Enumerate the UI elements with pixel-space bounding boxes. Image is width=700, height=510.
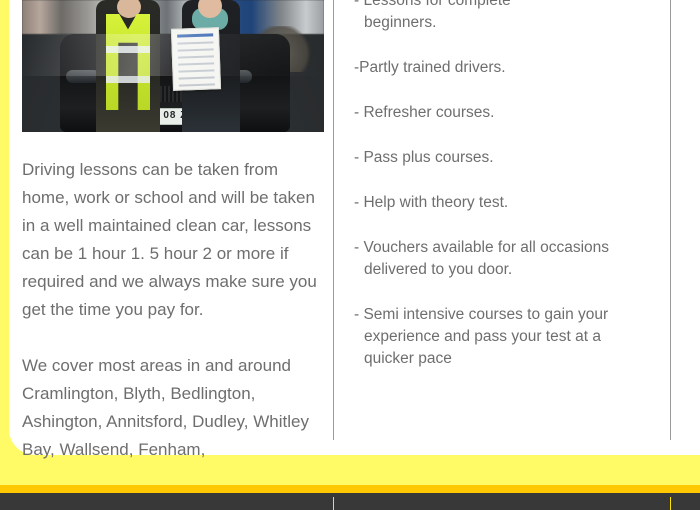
- page-root: 08 ZYE Driving lessons can be taken from…: [0, 0, 700, 510]
- photo-lens-glare: [22, 34, 324, 76]
- right-content-column: Services - Lessons for complete beginner…: [354, 0, 654, 393]
- service-item: - Pass plus courses.: [354, 147, 654, 169]
- service-item: - Semi intensive courses to gain your ex…: [354, 304, 654, 370]
- footer-bar: [0, 493, 700, 510]
- left-content-column: 08 ZYE Driving lessons can be taken from…: [22, 0, 325, 492]
- content-card: 08 ZYE Driving lessons can be taken from…: [9, 0, 700, 455]
- footer-divider-left: [333, 497, 334, 510]
- pupil-pass-photo: 08 ZYE: [22, 0, 324, 132]
- column-divider-middle: [333, 0, 334, 440]
- service-item: -Partly trained drivers.: [354, 57, 654, 79]
- about-paragraph-lessons: Driving lessons can be taken from home, …: [22, 156, 325, 324]
- column-divider-right: [670, 0, 671, 440]
- about-paragraph-coverage: We cover most areas in and around Cramli…: [22, 352, 325, 464]
- about-text-block: Driving lessons can be taken from home, …: [22, 156, 325, 464]
- service-item: - Vouchers available for all occasions d…: [354, 237, 654, 281]
- service-item: - Help with theory test.: [354, 192, 654, 214]
- photo-vest-reflective-band-lower: [106, 76, 150, 83]
- service-item: - Lessons for complete beginners.: [354, 0, 654, 34]
- service-item: - Refresher courses.: [354, 102, 654, 124]
- footer-divider-right: [670, 497, 671, 510]
- services-list: - Lessons for complete beginners. -Partl…: [354, 0, 654, 370]
